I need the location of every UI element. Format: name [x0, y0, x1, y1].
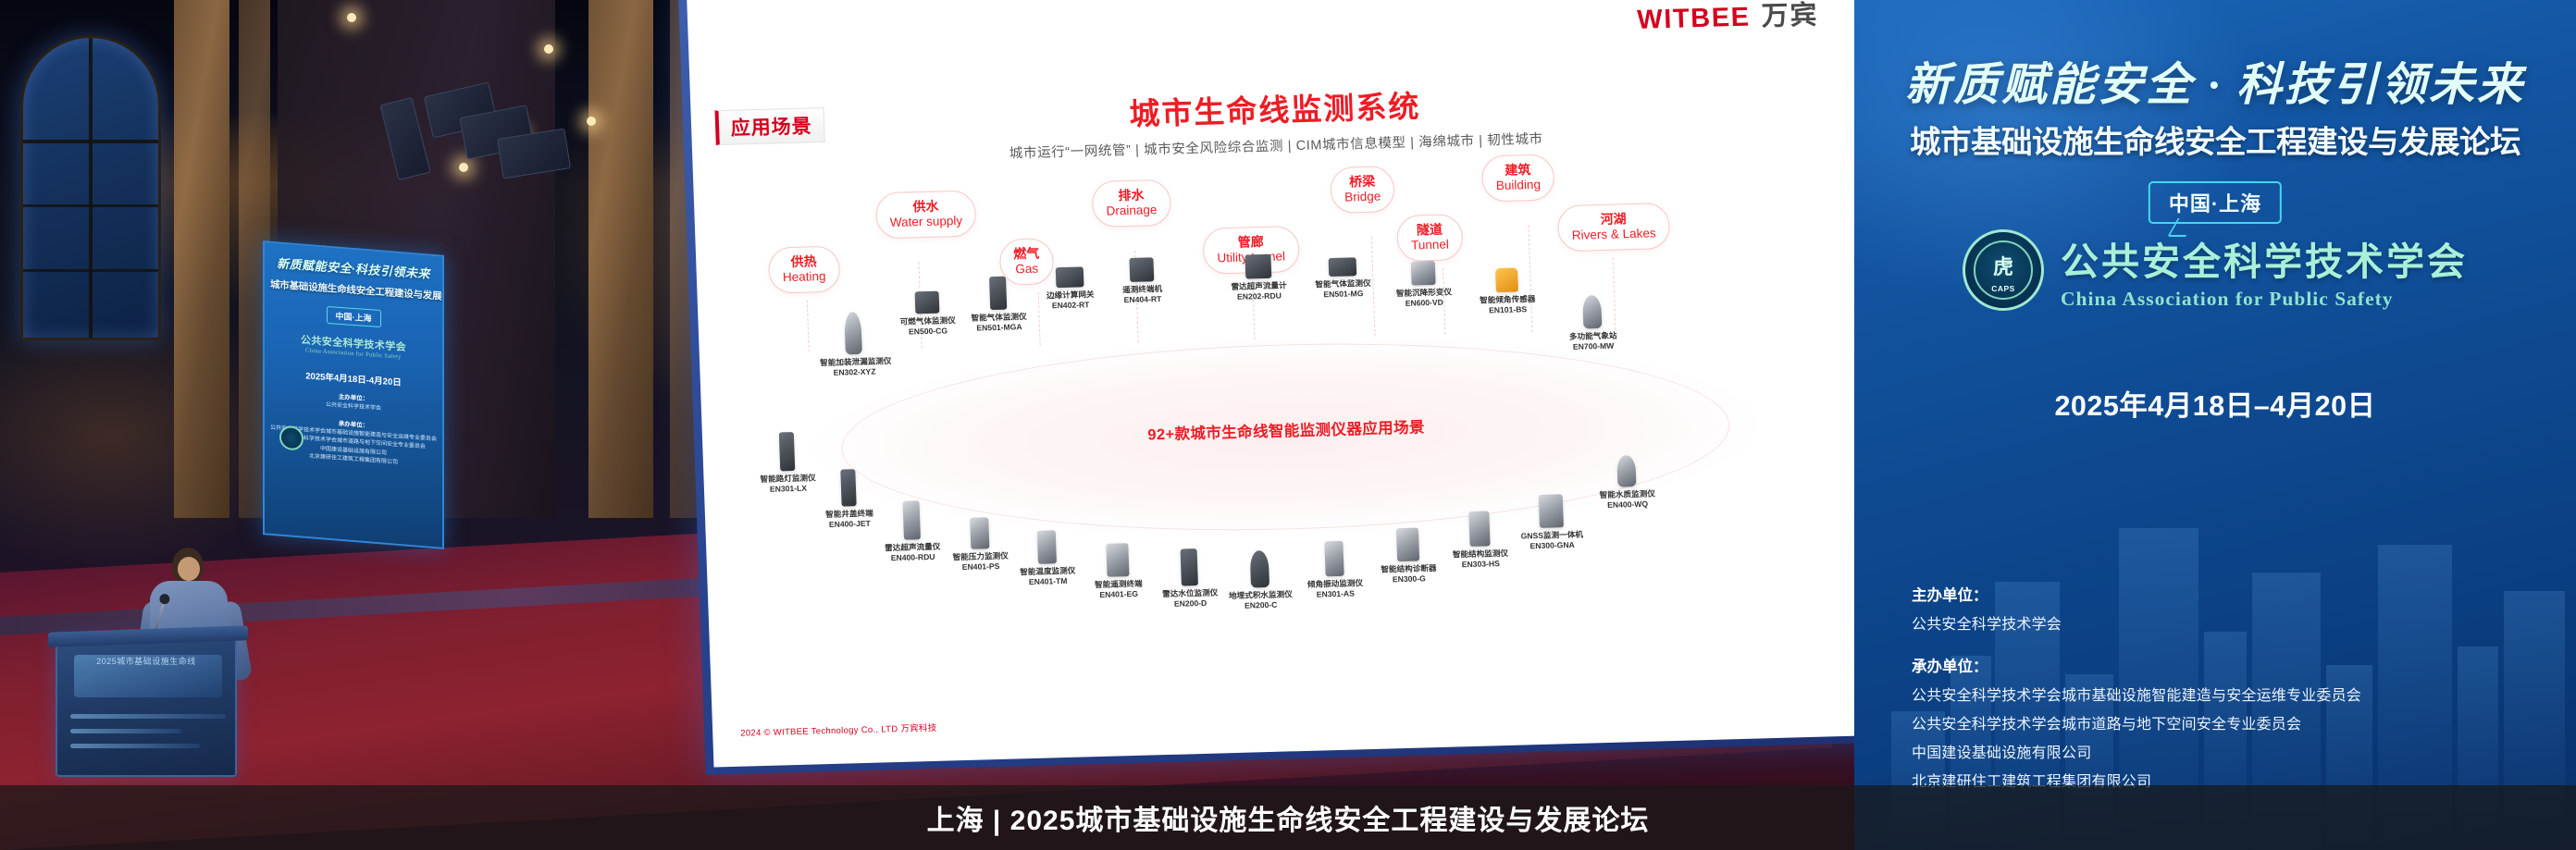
device-name: 雷达超声流量仪 — [880, 542, 945, 554]
device-item: 地埋式积水监测仪 EN200-C — [1225, 549, 1295, 610]
bubble-label-en: Water supply — [890, 213, 963, 229]
device-model: EN400-WQ — [1593, 499, 1662, 511]
device-item: 智能遥测终端 EN401-EG — [1085, 543, 1150, 600]
stage-side-banner: 新质赋能安全·科技引领未来 城市基础设施生命线安全工程建设与发展论坛 中国·上海… — [263, 240, 444, 549]
screenshot-root: 2025城市基础设施生命线 新质赋能安全·科技引领未来 城市基础设施生命线安全工… — [0, 0, 2576, 850]
device-item: 雷达水位监测仪 EN200-D — [1157, 548, 1223, 609]
device-model: EN301-LX — [756, 483, 821, 495]
bubble-label-en: Gas — [1013, 261, 1040, 277]
ceiling-light — [459, 163, 468, 172]
caption-bar: 上海 | 2025城市基础设施生命线安全工程建设与发展论坛 — [0, 785, 2576, 850]
wood-column — [174, 0, 229, 518]
slide-copyright: 2024 © WITBEE Technology Co., LTD 万宾科技 — [740, 721, 937, 739]
device-model: EN400-RDU — [880, 551, 945, 563]
banner-location-tag: 中国·上海 — [2149, 181, 2282, 224]
bubble-label-cn: 燃气 — [1013, 246, 1040, 262]
device-item: 智能水质监测仪 EN400-WQ — [1591, 454, 1662, 510]
mini-banner-host: 公共安全科学技术学会 — [326, 402, 381, 412]
bubble-rivers-lakes: 河湖 Rivers & Lakes — [1557, 203, 1671, 253]
device-model: EN500-CG — [895, 326, 961, 338]
bubble-tunnel: 隧道 Tunnel — [1396, 214, 1464, 262]
coorganizer-label: 承办单位： — [1912, 654, 2361, 676]
mini-banner-host-label: 主办单位： — [339, 394, 369, 402]
device-name: 智能遥测终端 — [1087, 579, 1150, 591]
device-model: EN401-PS — [949, 561, 1012, 573]
device-model: EN400-JET — [818, 518, 881, 530]
device-item: 智能结构诊断器 EN300-G — [1374, 527, 1443, 585]
ceiling-light — [347, 13, 356, 22]
device-item: 智能温度监测仪 EN401-TM — [1015, 530, 1080, 587]
device-name: 雷达超声流量计 — [1224, 280, 1293, 292]
bubble-label-cn: 排水 — [1106, 187, 1157, 203]
device-name: 智能路灯监测仪 — [755, 473, 820, 485]
podium-label: 2025城市基础设施生命线 — [57, 655, 235, 667]
device-item: 智能气体监测仪 EN501-MGA — [965, 276, 1032, 333]
witbee-logo: WITBEE 万宾 — [1636, 0, 1819, 37]
caption-text: 上海 | 2025城市基础设施生命线安全工程建设与发展论坛 — [927, 797, 1650, 838]
device-item: 遥测终端机 EN404-RT — [1110, 257, 1173, 305]
device-model: EN302-XYZ — [820, 366, 888, 378]
host-label: 主办单位： — [1912, 583, 2361, 605]
device-name: 智能压力监测仪 — [949, 551, 1012, 563]
device-model: EN402-RT — [1038, 300, 1103, 312]
device-model: EN501-MGA — [967, 322, 1032, 334]
device-item: 智能结构监测仪 EN303-HS — [1445, 511, 1514, 570]
device-model: EN200-C — [1227, 599, 1295, 611]
device-item: 雷达超声流量计 EN202-RDU — [1223, 253, 1294, 302]
device-name: 智能温度监测仪 — [1016, 566, 1079, 578]
device-item: 智能路灯监测仪 EN301-LX — [754, 431, 821, 494]
mini-banner-forum-title: 城市基础设施生命线安全工程建设与发展论坛 — [270, 277, 437, 303]
device-item: 智能倾角传感器 EN101-BS — [1472, 267, 1542, 315]
bubble-label-cn: 隧道 — [1410, 222, 1448, 239]
podium: 2025城市基础设施生命线 — [56, 638, 237, 777]
projection-screen: WITBEE 万宾 应用场景 城市生命线监测系统 城市运行“一网统管” | 城市… — [687, 0, 1881, 767]
bubble-label-en: Heating — [783, 269, 826, 285]
bubble-drainage: 排水 Drainage — [1091, 179, 1171, 228]
banner-forum-title: 城市基础设施生命线安全工程建设与发展论坛 — [1854, 117, 2576, 162]
bubble-heating: 供热 Heating — [768, 246, 840, 295]
ceiling-light — [544, 44, 553, 54]
banner-calligraphy: 新质赋能安全 · 科技引领未来 — [1854, 48, 2576, 114]
wood-column — [588, 0, 653, 518]
banner-org-en: China Association for Public Safety — [2061, 288, 2468, 311]
conference-banner: 新质赋能安全 · 科技引领未来 城市基础设施生命线安全工程建设与发展论坛 中国·… — [1854, 0, 2576, 850]
coorganizer-item: 公共安全科学技术学会城市道路与地下空间安全专业委员会 — [1912, 711, 2361, 733]
bubble-label-cn: 管廊 — [1217, 233, 1285, 251]
witbee-logo-cn: 万宾 — [1761, 0, 1819, 33]
device-name: 可燃气体监测仪 — [895, 315, 961, 327]
banner-organizers: 主办单位： 公共安全科学技术学会 承办单位： 公共安全科学技术学会城市基础设施智… — [1912, 583, 2361, 791]
coorganizer-item: 公共安全科学技术学会城市基础设施智能建造与安全运维专业委员会 — [1912, 683, 2361, 705]
arched-window — [20, 35, 161, 340]
bubble-building: 建筑 Building — [1481, 154, 1555, 203]
bubble-label-en: Drainage — [1106, 203, 1157, 218]
device-item: 智能井盖终端 EN400-JET — [816, 468, 881, 529]
device-item: 智能压力监测仪 EN401-PS — [947, 517, 1012, 573]
device-model: EN200-D — [1158, 597, 1222, 610]
bubble-label-cn: 供热 — [782, 253, 825, 270]
bubble-water-supply: 供水 Water supply — [875, 191, 977, 240]
host-name: 公共安全科学技术学会 — [1912, 611, 2361, 634]
device-name: 智能井盖终端 — [818, 508, 881, 520]
bubble-label-en: Bridge — [1344, 189, 1381, 204]
bubble-label-en: Building — [1496, 177, 1542, 192]
bubble-label-en: Rivers & Lakes — [1572, 226, 1656, 242]
device-item: 可燃气体监测仪 EN500-CG — [894, 290, 962, 337]
mini-banner-date: 2025年4月18日-4月20日 — [270, 366, 437, 391]
bubble-label-en: Tunnel — [1411, 237, 1449, 253]
mini-banner-location-tag: 中国·上海 — [327, 306, 381, 327]
device-model: EN303-HS — [1447, 558, 1514, 570]
device-model: EN300-G — [1376, 573, 1443, 585]
device-item: 智能沉降形变仪 EN600-VD — [1389, 260, 1459, 308]
seal-abbr: CAPS — [1965, 284, 2041, 293]
device-model: EN202-RDU — [1225, 290, 1294, 302]
presentation-slide: WITBEE 万宾 应用场景 城市生命线监测系统 城市运行“一网统管” | 城市… — [687, 0, 1881, 767]
device-model: EN404-RT — [1112, 293, 1173, 305]
device-item: 智能加装泄漏监测仪 EN302-XYZ — [818, 311, 888, 377]
device-model: EN501-MG — [1310, 288, 1377, 300]
device-model: EN700-MW — [1558, 340, 1629, 352]
device-name: 智能加装泄漏监测仪 — [820, 356, 888, 368]
device-name: 智能结构诊断器 — [1375, 563, 1442, 575]
device-name: 地埋式积水监测仪 — [1226, 589, 1294, 601]
device-item: 倾角振动监测仪 EN301-AS — [1300, 540, 1368, 599]
device-item: 边缘计算网关 EN402-RT — [1037, 266, 1104, 311]
ceiling-light — [587, 117, 596, 126]
mini-banner-calligraphy: 新质赋能安全·科技引领未来 — [270, 253, 437, 283]
device-model: EN401-EG — [1087, 588, 1150, 600]
device-model: EN301-AS — [1302, 588, 1368, 600]
device-name: 雷达水位监测仪 — [1158, 587, 1222, 599]
device-name: GNSS监测一体机 — [1517, 530, 1587, 542]
device-item: GNSS监测一体机 EN300-GNA — [1516, 494, 1588, 552]
banner-date: 2025年4月18日–4月20日 — [1854, 383, 2576, 424]
device-model: EN300-GNA — [1517, 539, 1587, 551]
device-name: 智能倾角传感器 — [1473, 294, 1542, 306]
mini-banner-coorg-label: 承办单位： — [339, 421, 369, 429]
banner-org-cn: 公共安全科学技术学会 — [2061, 230, 2468, 286]
device-name: 智能气体监测仪 — [1309, 278, 1376, 290]
bubble-label-cn: 建筑 — [1495, 162, 1541, 179]
coorganizer-item: 中国建设基础设施有限公司 — [1912, 740, 2361, 762]
device-model: EN401-TM — [1017, 575, 1080, 587]
device-name: 边缘计算网关 — [1038, 289, 1103, 302]
device-name: 智能沉降形变仪 — [1390, 287, 1458, 299]
device-model: EN101-BS — [1473, 304, 1542, 316]
caps-seal-icon: 虎 CAPS — [1963, 229, 2044, 311]
witbee-logo-en: WITBEE — [1637, 3, 1751, 36]
device-model: EN600-VD — [1390, 297, 1458, 309]
device-name: 倾角振动监测仪 — [1302, 578, 1368, 590]
bubble-label-cn: 桥梁 — [1344, 174, 1381, 191]
device-name: 智能水质监测仪 — [1593, 488, 1662, 500]
device-item: 多功能气象站 EN700-MW — [1556, 294, 1629, 352]
device-item: 雷达超声流量仪 EN400-RDU — [879, 500, 946, 563]
device-item: 智能气体监测仪 EN501-MG — [1309, 257, 1378, 300]
device-name: 智能结构监测仪 — [1447, 548, 1514, 561]
bubble-bridge: 桥梁 Bridge — [1330, 166, 1395, 214]
